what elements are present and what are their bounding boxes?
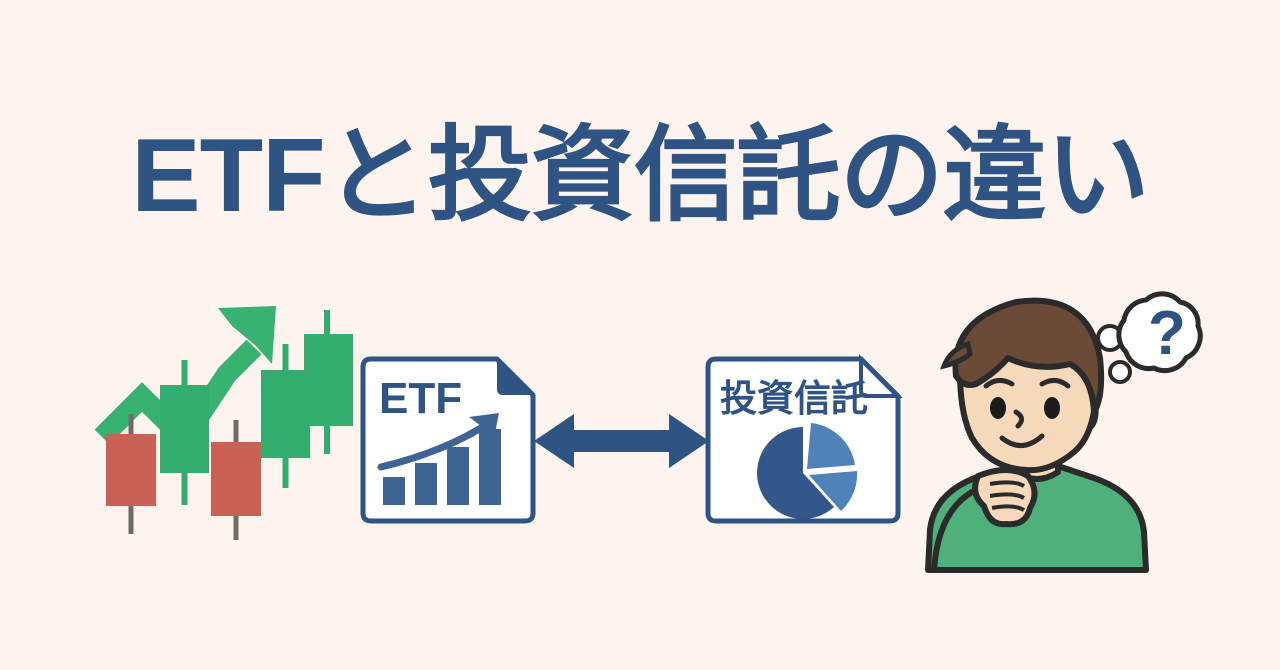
etf-card-svg: ETF: [357, 355, 537, 527]
thought-bubble-question-mark: ?: [1148, 299, 1186, 368]
candle-4: [261, 344, 310, 488]
page-title-text: ETFと投資信託の違い: [131, 118, 1148, 234]
double-headed-arrow: [534, 410, 709, 472]
etf-card-fold-icon: [497, 359, 533, 395]
investment-trust-card: 投資信託: [703, 355, 903, 527]
person-eye-left: [990, 397, 1006, 419]
candlestick-chart-svg: [96, 302, 331, 562]
fund-card-label: 投資信託: [720, 378, 868, 419]
etf-document-card: ETF: [357, 355, 537, 527]
thinking-person-illustration: ?: [898, 280, 1198, 580]
etf-card-label: ETF: [379, 374, 462, 423]
fund-card-svg: 投資信託: [703, 355, 903, 527]
double-headed-arrow-icon: [534, 410, 709, 472]
candlestick-chart: [96, 302, 331, 562]
candle-3: [211, 420, 261, 540]
thought-bubble: ?: [1098, 294, 1200, 382]
page-title: ETFと投資信託の違い: [0, 118, 1280, 234]
illustration-row: ETF: [0, 280, 1280, 590]
thumbnail-canvas: ETFと投資信託の違い: [0, 0, 1280, 670]
person-eye-right: [1044, 397, 1060, 419]
person-svg: ?: [898, 280, 1198, 580]
candle-2: [160, 360, 209, 505]
candle-5: [304, 310, 353, 454]
